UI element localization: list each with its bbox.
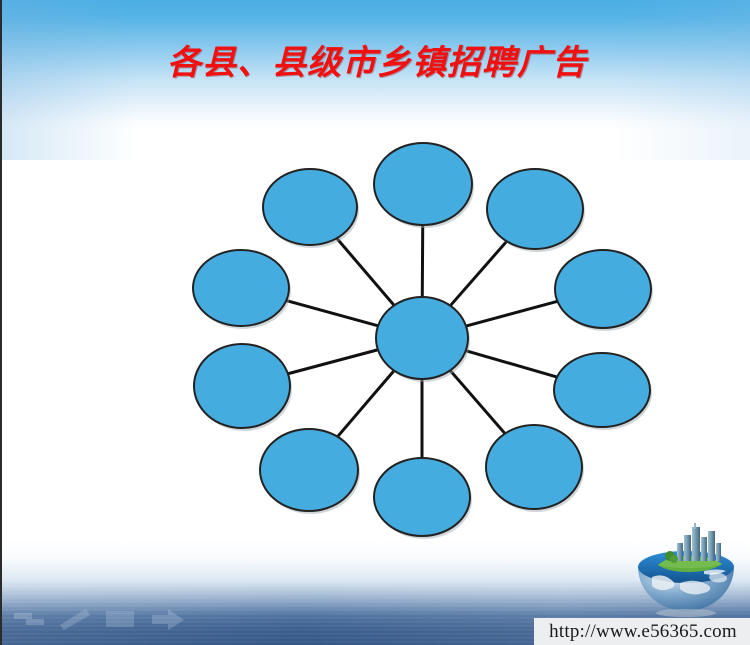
diagram-node-3[interactable] bbox=[555, 250, 653, 331]
diagram-edge bbox=[338, 371, 395, 437]
diagram-node-4[interactable] bbox=[554, 353, 652, 430]
diagram-center-node[interactable] bbox=[376, 297, 470, 382]
diagram-edge bbox=[450, 370, 505, 433]
watermark-url: http://www.e56365.com bbox=[534, 618, 750, 645]
diagram-node-10[interactable] bbox=[263, 169, 359, 248]
diagram-node-1[interactable] bbox=[374, 143, 474, 228]
node-ellipse[interactable] bbox=[487, 169, 583, 249]
slide-canvas: 各县、县级市乡镇招聘广告 bbox=[0, 0, 750, 645]
node-ellipse[interactable] bbox=[555, 250, 651, 328]
node-ellipse[interactable] bbox=[263, 169, 357, 245]
diagram-node-9[interactable] bbox=[193, 250, 291, 329]
earth-city-globe-logo bbox=[632, 523, 740, 618]
node-ellipse[interactable] bbox=[193, 250, 289, 326]
diagram-edge bbox=[450, 241, 506, 305]
diagram-node-7[interactable] bbox=[260, 429, 360, 514]
diagram-node-8[interactable] bbox=[194, 344, 292, 431]
node-ellipse[interactable] bbox=[554, 353, 650, 427]
node-ellipse[interactable] bbox=[374, 143, 472, 225]
node-ellipse[interactable] bbox=[376, 297, 468, 379]
diagram-edge bbox=[286, 301, 378, 326]
node-ellipse[interactable] bbox=[486, 425, 582, 509]
node-ellipse[interactable] bbox=[194, 344, 290, 428]
diagram-edge bbox=[466, 301, 557, 326]
node-ellipse[interactable] bbox=[260, 429, 358, 511]
diagram-edge bbox=[337, 238, 394, 305]
diagram-node-2[interactable] bbox=[487, 169, 585, 252]
node-ellipse[interactable] bbox=[374, 458, 470, 536]
diagram-node-group bbox=[193, 143, 653, 539]
diagram-edge bbox=[466, 351, 557, 377]
diagram-edge bbox=[288, 350, 378, 374]
diagram-node-6[interactable] bbox=[374, 458, 472, 539]
diagram-node-5[interactable] bbox=[486, 425, 584, 512]
